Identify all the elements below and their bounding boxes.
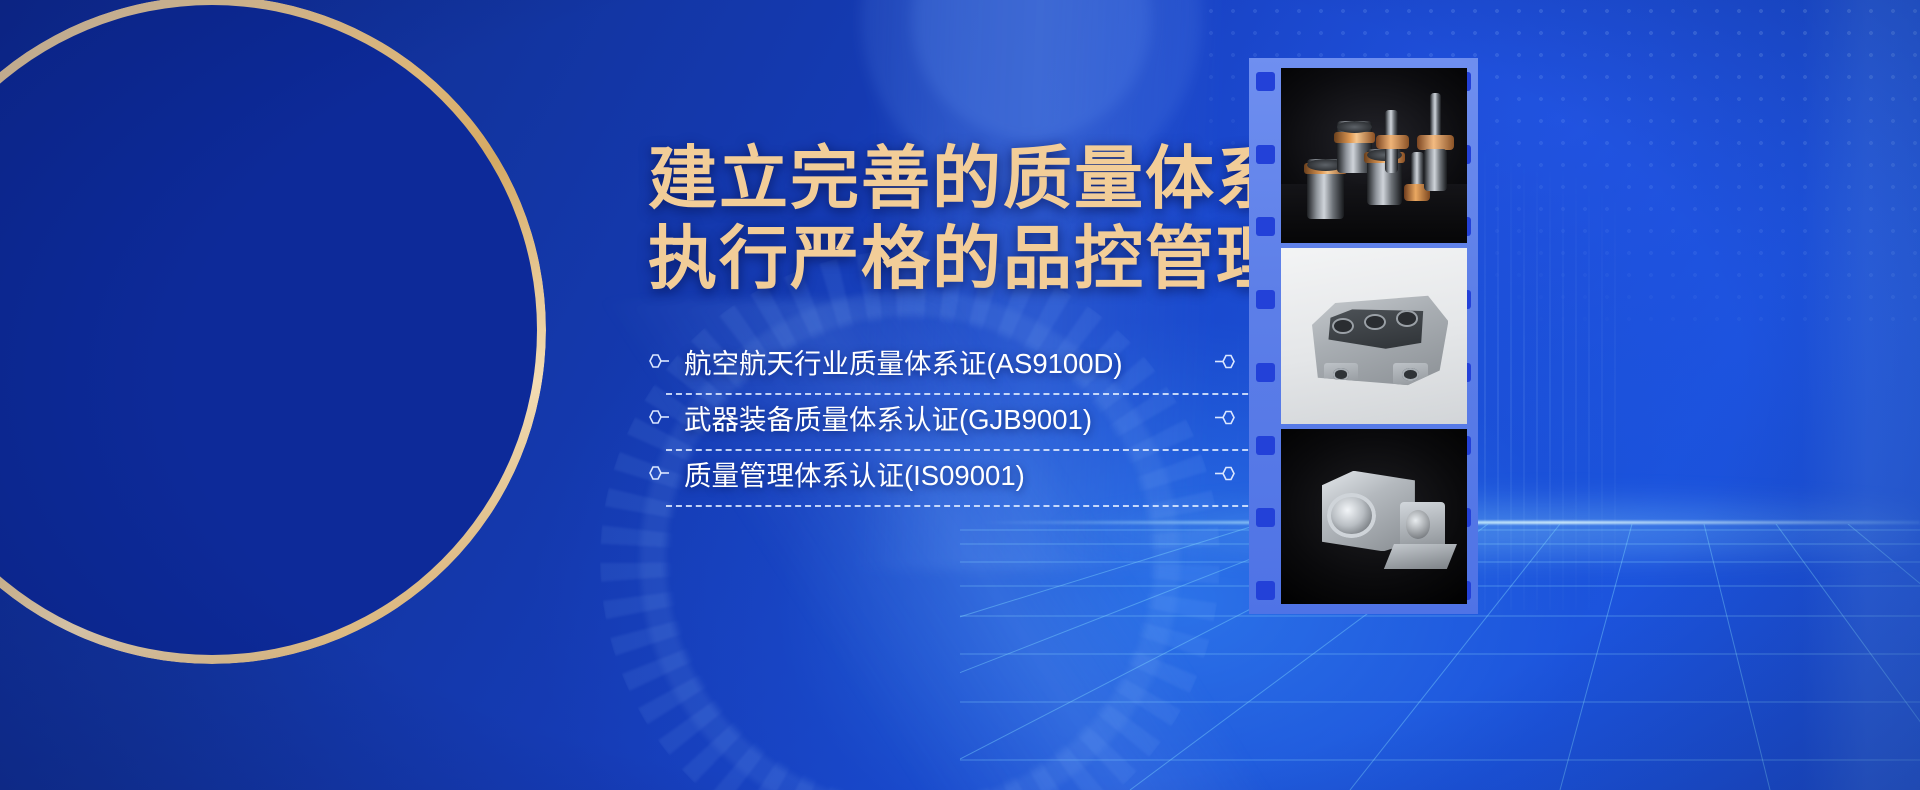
background-vignette — [0, 0, 1920, 790]
quality-system-banner: 建立完善的质量体系 执行严格的品控管理 航空航天行业质量体系证(AS9100D) — [0, 0, 1920, 790]
